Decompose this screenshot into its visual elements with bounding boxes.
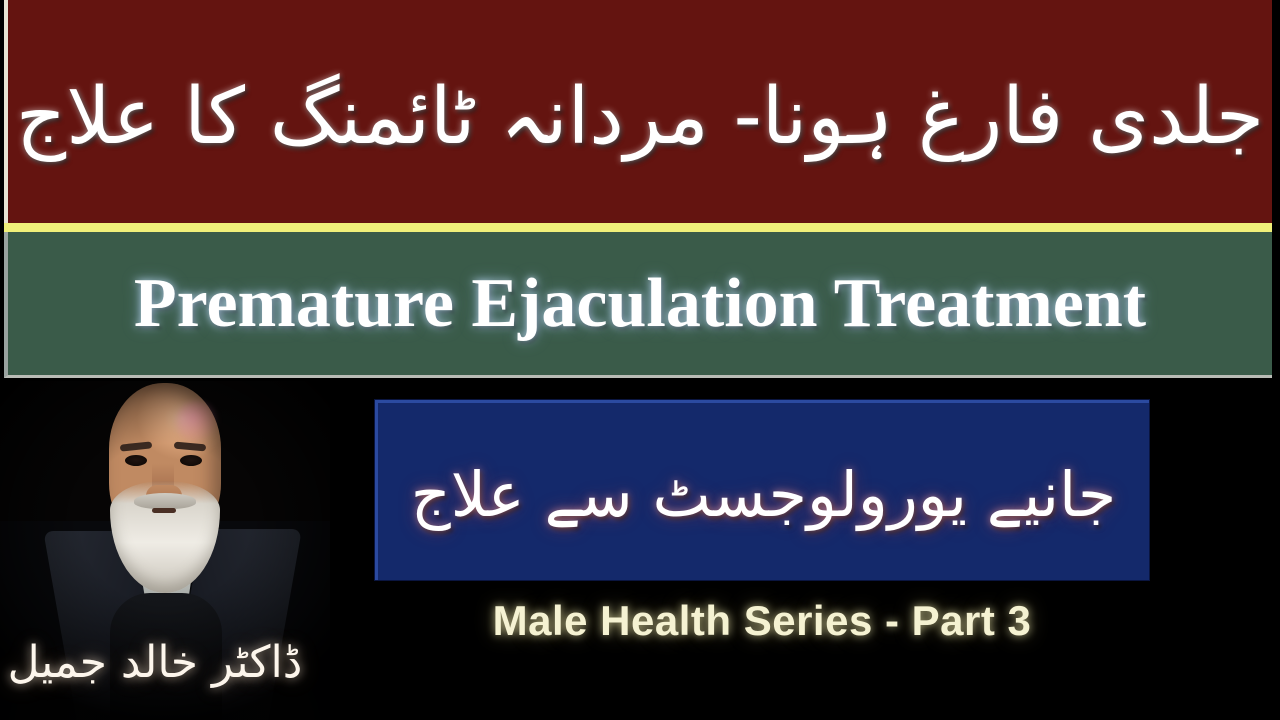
head-highlight (176, 401, 218, 443)
urdu-headline: جلدی فارغ ہونا- مردانہ ٹائمنگ کا علاج (16, 69, 1264, 167)
top-maroon-banner: جلدی فارغ ہونا- مردانہ ٹائمنگ کا علاج (4, 0, 1272, 223)
doctor-name-label: ڈاکٹر خالد جمیل (0, 637, 310, 690)
mustache-shape (134, 493, 196, 509)
video-thumbnail: جلدی فارغ ہونا- مردانہ ٹائمنگ کا علاج Pr… (0, 0, 1280, 720)
series-label: Male Health Series - Part 3 (375, 597, 1149, 645)
green-banner: Premature Ejaculation Treatment (4, 232, 1272, 378)
eye-left (125, 455, 147, 466)
doctor-portrait: ڈاکٹر خالد جمیل (0, 381, 330, 720)
yellow-divider (4, 223, 1272, 232)
urdu-subheadline: جانیے یورولوجسٹ سے علاج (411, 455, 1117, 536)
english-headline: Premature Ejaculation Treatment (134, 264, 1146, 344)
blue-callout-box: جانیے یورولوجسٹ سے علاج (375, 400, 1149, 580)
mouth-shape (152, 508, 176, 513)
eye-right (180, 455, 202, 466)
